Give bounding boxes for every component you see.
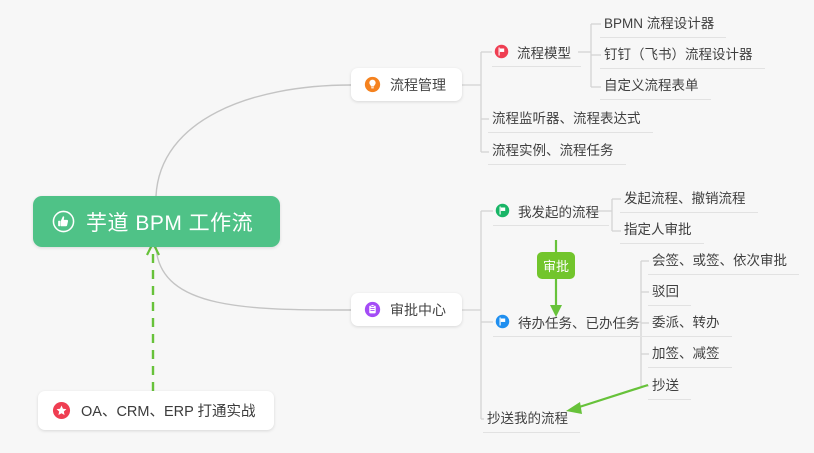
- arrow-cc-to-ccmine: [573, 385, 648, 409]
- leaf-node-countersign[interactable]: 会签、或签、依次审批: [648, 246, 799, 275]
- leaf-node-dingtalk-designer[interactable]: 钉钉（飞书）流程设计器: [600, 40, 765, 69]
- leaf-node-custom-form[interactable]: 自定义流程表单: [600, 71, 711, 100]
- mindmap-canvas: 芋道 BPM 工作流 流程管理 审批中心: [0, 0, 814, 453]
- root-node[interactable]: 芋道 BPM 工作流: [33, 196, 280, 247]
- sub-label-my-started-process: 我发起的流程: [518, 201, 599, 221]
- leaf-node-carbon-copy[interactable]: 抄送: [648, 371, 691, 400]
- root-label: 芋道 BPM 工作流: [86, 207, 253, 237]
- flag-icon: [495, 203, 510, 218]
- callout-label: OA、CRM、ERP 打通实战: [81, 400, 256, 421]
- leaf-node-assignee-approval[interactable]: 指定人审批: [620, 215, 704, 244]
- sub-node-process-model[interactable]: 流程模型: [492, 37, 581, 67]
- flag-icon: [494, 44, 509, 59]
- branch-label-approval-center: 审批中心: [390, 300, 446, 320]
- callout-node-integration[interactable]: OA、CRM、ERP 打通实战: [38, 391, 274, 430]
- leaf-node-listener-expression[interactable]: 流程监听器、流程表达式: [488, 104, 653, 133]
- sub-node-my-started-process[interactable]: 我发起的流程: [493, 196, 609, 226]
- badge-approval-tag: 审批: [537, 252, 575, 279]
- clipboard-icon: [364, 301, 381, 318]
- star-icon: [52, 401, 71, 420]
- leaf-node-add-remove-sign[interactable]: 加签、减签: [648, 339, 732, 368]
- lightbulb-icon: [364, 76, 381, 93]
- branch-label-process-management: 流程管理: [390, 75, 446, 95]
- leaf-node-launch-cancel[interactable]: 发起流程、撤销流程: [620, 184, 758, 213]
- branch-node-approval-center[interactable]: 审批中心: [351, 293, 462, 326]
- leaf-node-instance-task[interactable]: 流程实例、流程任务: [488, 136, 626, 165]
- connector-root-to-approval: [156, 247, 351, 310]
- leaf-node-reject[interactable]: 驳回: [648, 277, 691, 306]
- flag-icon: [495, 314, 510, 329]
- thumbs-up-icon: [52, 210, 75, 233]
- connector-root-to-process: [156, 85, 351, 196]
- leaf-node-delegate-transfer[interactable]: 委派、转办: [648, 308, 732, 337]
- leaf-node-bpmn-designer[interactable]: BPMN 流程设计器: [600, 9, 726, 38]
- sub-node-todo-done-tasks[interactable]: 待办任务、已办任务: [493, 307, 650, 337]
- branch-node-process-management[interactable]: 流程管理: [351, 68, 462, 101]
- leaf-node-cc-my-process[interactable]: 抄送我的流程: [483, 404, 580, 433]
- sub-label-process-model: 流程模型: [517, 42, 571, 62]
- sub-label-todo-done-tasks: 待办任务、已办任务: [518, 312, 640, 332]
